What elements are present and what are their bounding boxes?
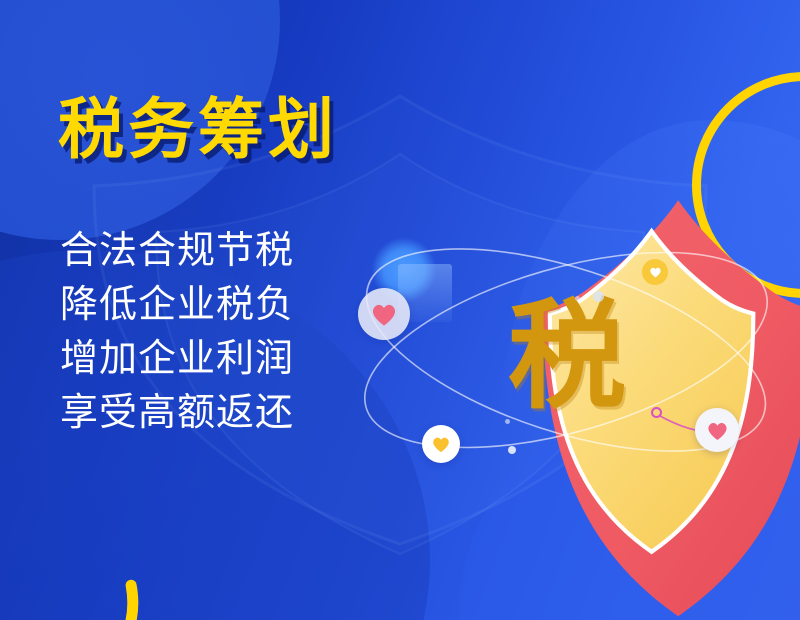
tax-shield-emblem: 税: [330, 120, 800, 560]
magenta-ring-icon: [651, 407, 662, 418]
heart-badge-bottom-right: [695, 408, 739, 452]
sparkle-dot: [505, 419, 510, 424]
heart-icon: [649, 266, 662, 278]
benefit-item: 增加企业利润: [60, 332, 294, 386]
benefit-item: 降低企业税负: [60, 278, 294, 332]
sparkle-dot: [593, 291, 604, 302]
sparkle-dot: [508, 446, 516, 454]
yellow-arc-bottom-left: [0, 492, 150, 620]
orbit-rings: [330, 120, 800, 560]
benefit-list: 合法合规节税 降低企业税负 增加企业利润 享受高额返还: [60, 224, 294, 440]
heart-badge-left: [358, 288, 410, 340]
heart-badge-top-right: [642, 259, 668, 285]
heart-badge-bottom-left: [422, 425, 460, 463]
benefit-item: 合法合规节税: [60, 224, 294, 278]
heart-icon: [370, 301, 398, 327]
sparkle-dot: [575, 296, 580, 301]
tax-planning-banner: 税务筹划 合法合规节税 降低企业税负 增加企业利润 享受高额返还: [0, 0, 800, 620]
benefit-item: 享受高额返还: [60, 386, 294, 440]
heart-icon: [431, 435, 451, 453]
heart-icon: [706, 420, 729, 441]
page-title: 税务筹划: [58, 96, 338, 162]
